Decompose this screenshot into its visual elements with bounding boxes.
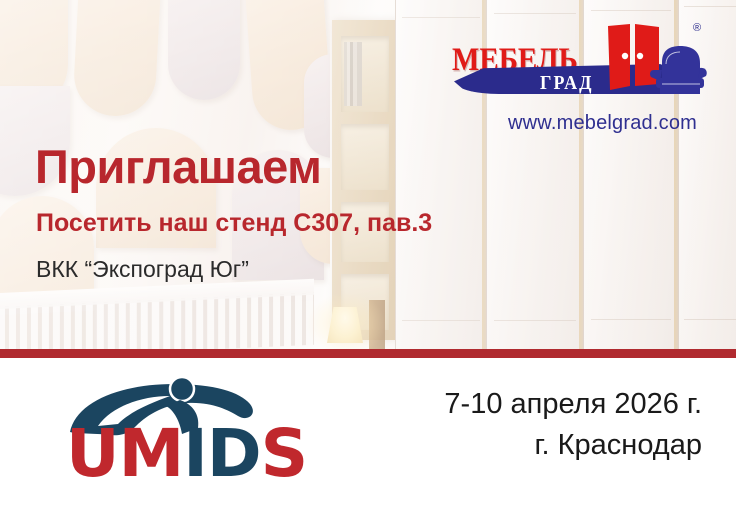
registered-trademark-icon: ® — [693, 22, 701, 34]
promo-banner: Приглашаем Посетить наш стенд С307, пав.… — [0, 0, 736, 506]
umids-wordmark: UMIDS — [66, 421, 307, 487]
armchair-icon — [648, 44, 710, 98]
event-date: 7-10 апреля 2026 г. — [444, 384, 702, 425]
venue-label: ВКК “Экспоград Юг” — [36, 258, 249, 281]
footer-bar: UMIDS 7-10 апреля 2026 г. г. Краснодар — [0, 358, 736, 506]
mebelgrad-logo[interactable]: мебель град ® — [452, 22, 708, 108]
mebelgrad-wordmark-bottom: град — [540, 66, 594, 97]
red-divider — [0, 349, 736, 358]
page-title: Приглашаем — [35, 143, 321, 190]
umids-logo[interactable]: UMIDS — [62, 376, 292, 486]
stand-subtitle: Посетить наш стенд С307, пав.3 — [36, 211, 432, 236]
event-city: г. Краснодар — [444, 425, 702, 466]
website-url[interactable]: www.mebelgrad.com — [508, 112, 697, 135]
event-details: 7-10 апреля 2026 г. г. Краснодар — [444, 384, 702, 466]
